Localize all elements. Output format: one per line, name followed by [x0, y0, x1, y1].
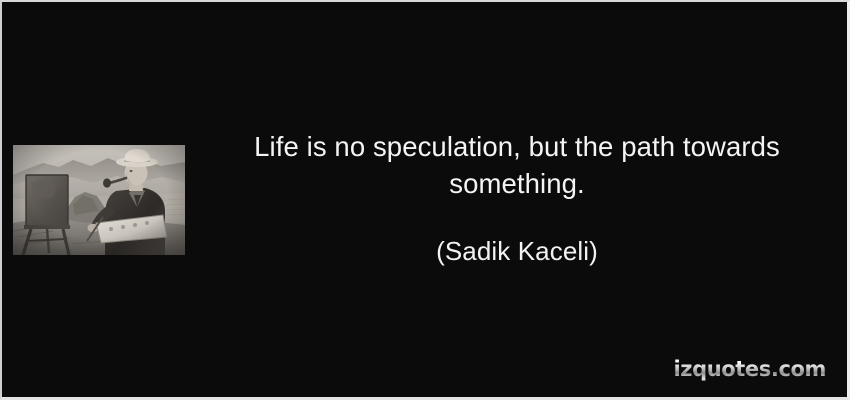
quote-image-card: Life is no speculation, but the path tow…	[0, 0, 850, 400]
portrait-illustration	[13, 145, 185, 255]
quote-line-2: something.	[197, 165, 837, 202]
quote-attribution: (Sadik Kaceli)	[197, 202, 837, 267]
quote-line-1: Life is no speculation, but the path tow…	[197, 128, 837, 165]
portrait-photo	[13, 145, 185, 255]
quote-block: Life is no speculation, but the path tow…	[197, 128, 837, 267]
site-watermark: izquotes.com	[673, 357, 826, 381]
